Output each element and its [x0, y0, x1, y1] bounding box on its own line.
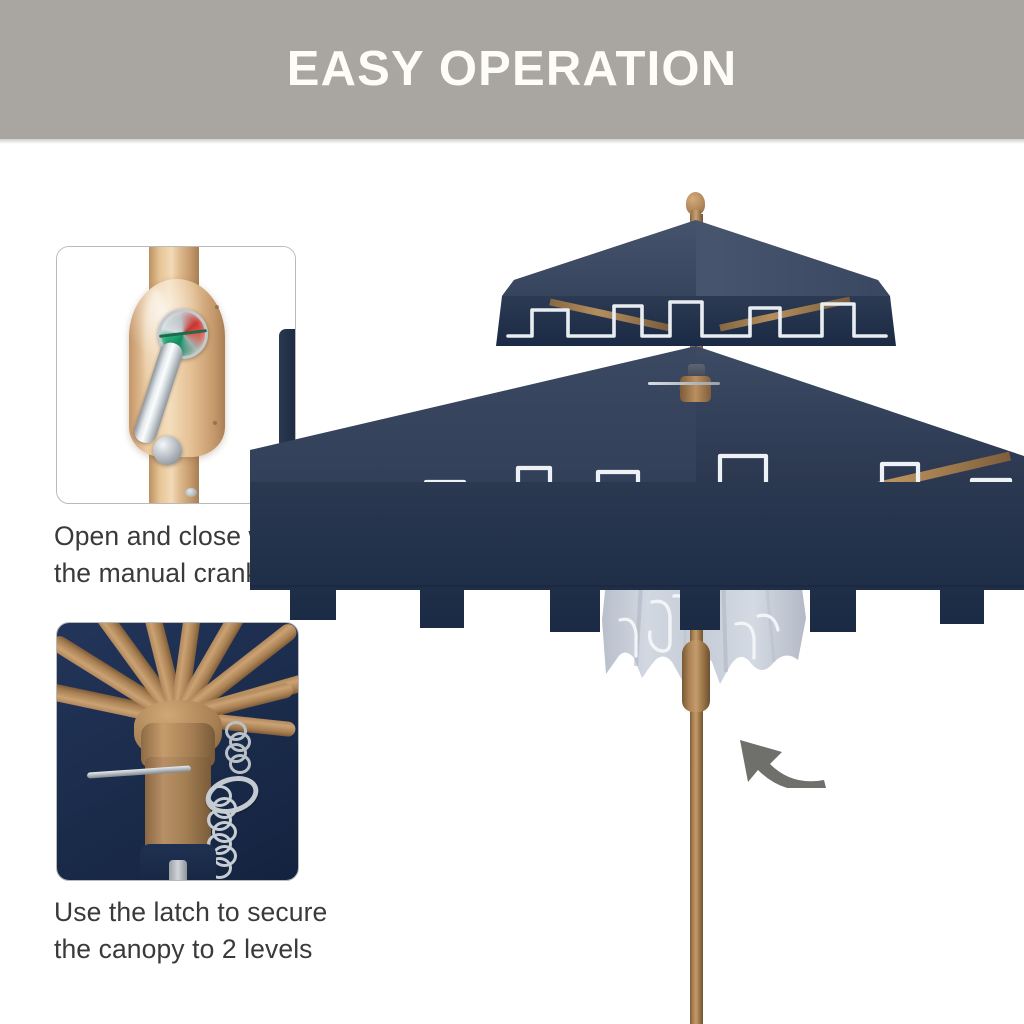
crank-screw — [185, 488, 197, 497]
upper-runner-hub — [680, 376, 711, 402]
hub-foot — [140, 844, 216, 881]
strut-pin — [648, 382, 720, 385]
housing-dot — [213, 421, 217, 425]
page-title: EASY OPERATION — [287, 45, 738, 94]
curved-arrow-up-left-icon — [720, 706, 835, 788]
header-band-shadow — [0, 139, 1024, 144]
umbrella-illustration — [250, 150, 1024, 1024]
canopy-geometry — [250, 150, 1024, 1024]
housing-dot — [215, 305, 219, 309]
header-band: EASY OPERATION — [0, 0, 1024, 139]
crank-knob — [153, 436, 182, 465]
infographic-canvas: EASY OPERATION Open and close with the m… — [0, 0, 1024, 1024]
